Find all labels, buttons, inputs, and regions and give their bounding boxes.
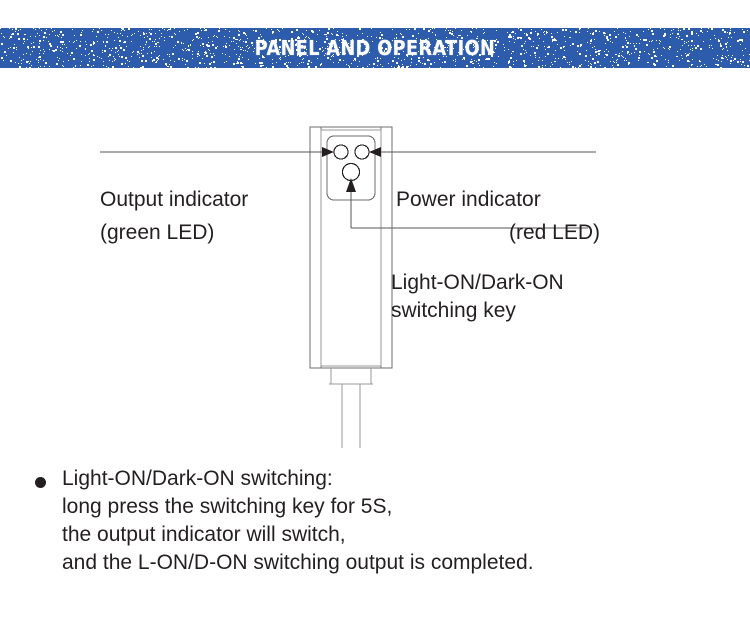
label-switching-key: Light-ON/Dark-ON <box>391 269 564 296</box>
switching-key-button <box>343 164 360 181</box>
banner-title: PANEL AND OPERATION <box>45 28 705 68</box>
sensor-drawing <box>0 68 750 448</box>
note-line-3: the output indicator will switch, <box>62 521 534 549</box>
label-output-indicator-sub: (green LED) <box>100 219 214 246</box>
bullet-dot-icon <box>35 477 46 488</box>
sensor-cable <box>342 384 360 448</box>
label-output-indicator: Output indicator <box>100 186 248 213</box>
panel-diagram: Output indicator (green LED) Power indic… <box>0 68 750 448</box>
section-banner: PANEL AND OPERATION <box>0 28 750 68</box>
label-switching-key-sub: switching key <box>391 297 516 324</box>
note-line-2: long press the switching key for 5S, <box>62 493 534 521</box>
power-indicator-led <box>355 145 369 159</box>
note-line-1: Light-ON/Dark-ON switching: <box>62 465 534 493</box>
output-indicator-led <box>334 145 348 159</box>
operation-note-lines: Light-ON/Dark-ON switching: long press t… <box>62 465 534 577</box>
label-power-indicator-sub: (red LED) <box>396 219 600 246</box>
note-line-4: and the L-ON/D-ON switching output is co… <box>62 549 534 577</box>
label-power-indicator: Power indicator <box>396 186 541 213</box>
cable-connector <box>331 368 371 384</box>
